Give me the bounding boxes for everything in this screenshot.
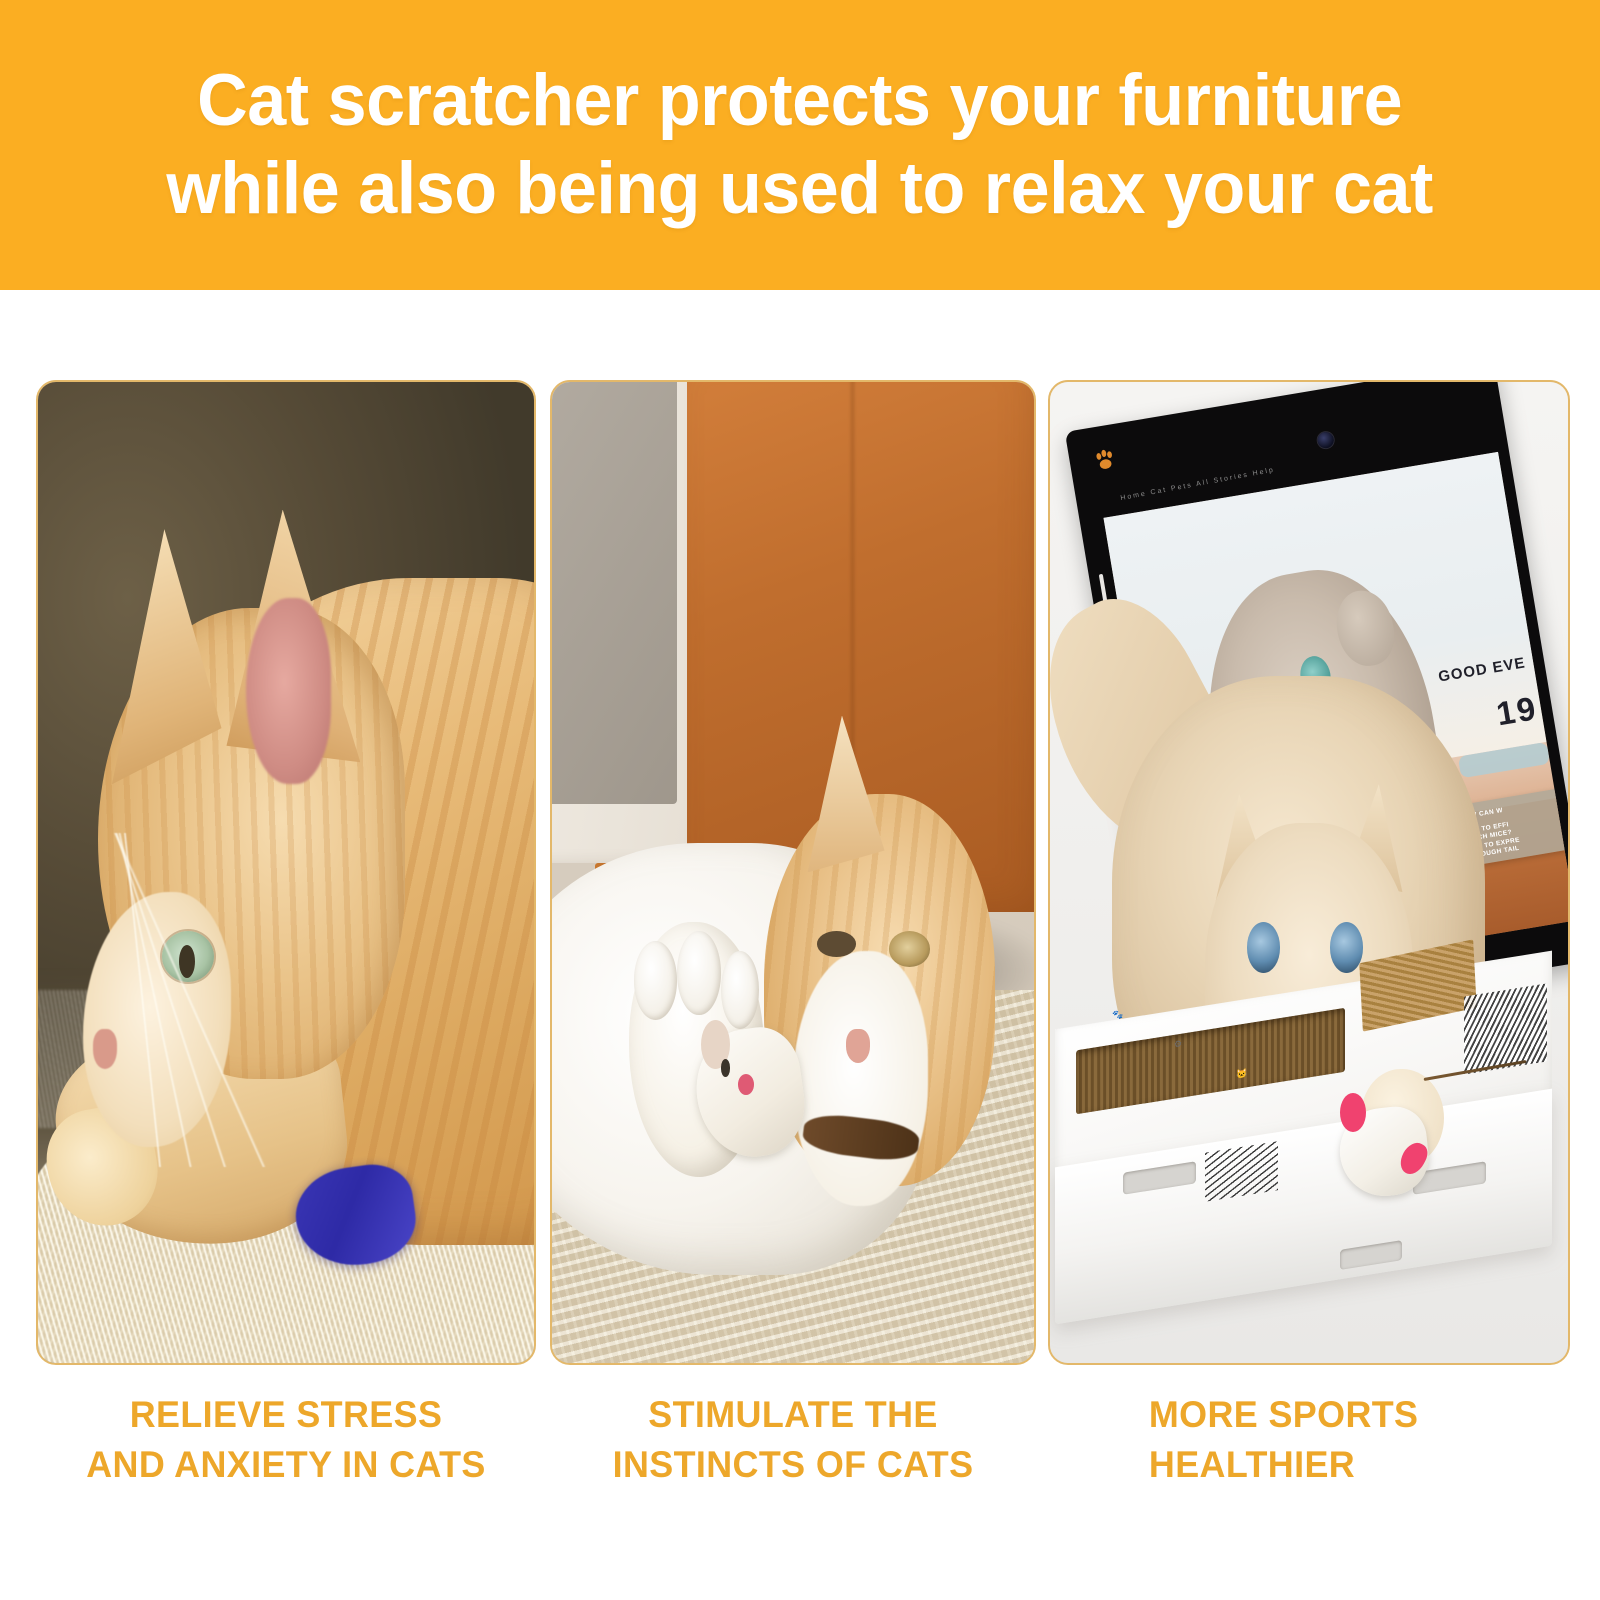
caption-3-line-1: MORE SPORTS bbox=[1149, 1390, 1595, 1440]
caption-relieve-stress: RELIEVE STRESS AND ANXIETY IN CATS bbox=[44, 1390, 529, 1490]
kitten-eye-left bbox=[1247, 922, 1281, 973]
spray-mark-icon: ⚙ bbox=[1174, 1039, 1182, 1051]
cat-toe bbox=[677, 931, 720, 1014]
scratcher-mesh-panel bbox=[1464, 984, 1547, 1076]
scene-cat-with-toy-mouse bbox=[552, 382, 1034, 1363]
headline-line-2: while also being used to relax your cat bbox=[167, 145, 1433, 233]
cat-nose bbox=[846, 1029, 870, 1062]
photo-panel-strip: GOOD EVE 19 HOW CAN W HOW TO EFFI CATCH … bbox=[0, 380, 1600, 1365]
toy-mouse-eye bbox=[721, 1059, 731, 1077]
headline-line-1: Cat scratcher protects your furniture bbox=[197, 57, 1402, 145]
cat-ear-inner bbox=[246, 598, 330, 784]
cat-muzzle bbox=[793, 951, 928, 1206]
caption-2-line-1: STIMULATE THE bbox=[557, 1390, 1028, 1440]
cat-whiskers bbox=[38, 833, 276, 1167]
caption-3-line-2: HEALTHIER bbox=[1149, 1440, 1595, 1490]
caption-1-line-1: RELIEVE STRESS bbox=[44, 1390, 529, 1440]
caption-1-line-2: AND ANXIETY IN CATS bbox=[44, 1440, 529, 1490]
scene-kitten-with-scratcher: GOOD EVE 19 HOW CAN W HOW TO EFFI CATCH … bbox=[1050, 382, 1568, 1363]
cat-toe bbox=[634, 941, 677, 1019]
header-banner: Cat scratcher protects your furniture wh… bbox=[0, 0, 1600, 290]
caption-row: RELIEVE STRESS AND ANXIETY IN CATS STIMU… bbox=[0, 1390, 1600, 1530]
caption-stimulate-instincts: STIMULATE THE INSTINCTS OF CATS bbox=[557, 1390, 1028, 1490]
caption-more-sports: MORE SPORTS HEALTHIER bbox=[1149, 1390, 1595, 1490]
camera-icon bbox=[1317, 430, 1335, 448]
photo-panel-stimulate-instincts bbox=[550, 380, 1036, 1365]
cat-eye-left bbox=[817, 931, 856, 957]
screen-time-text: 19 bbox=[1494, 689, 1540, 733]
photo-panel-relieve-stress bbox=[36, 380, 536, 1365]
scene-ginger-cat-on-mat bbox=[38, 382, 534, 1363]
paw-mark-icon: 🐾 bbox=[1112, 1009, 1123, 1022]
photo-panel-more-sports: GOOD EVE 19 HOW CAN W HOW TO EFFI CATCH … bbox=[1048, 380, 1570, 1365]
cat-eye-right bbox=[889, 931, 930, 966]
caption-2-line-2: INSTINCTS OF CATS bbox=[557, 1440, 1028, 1490]
paw-print-icon bbox=[1090, 445, 1120, 475]
cabinet-door bbox=[552, 382, 677, 804]
kitten-eye-right bbox=[1330, 922, 1364, 973]
cat-face-mark-icon: 🐱 bbox=[1236, 1068, 1247, 1081]
cat-toe bbox=[721, 951, 760, 1029]
